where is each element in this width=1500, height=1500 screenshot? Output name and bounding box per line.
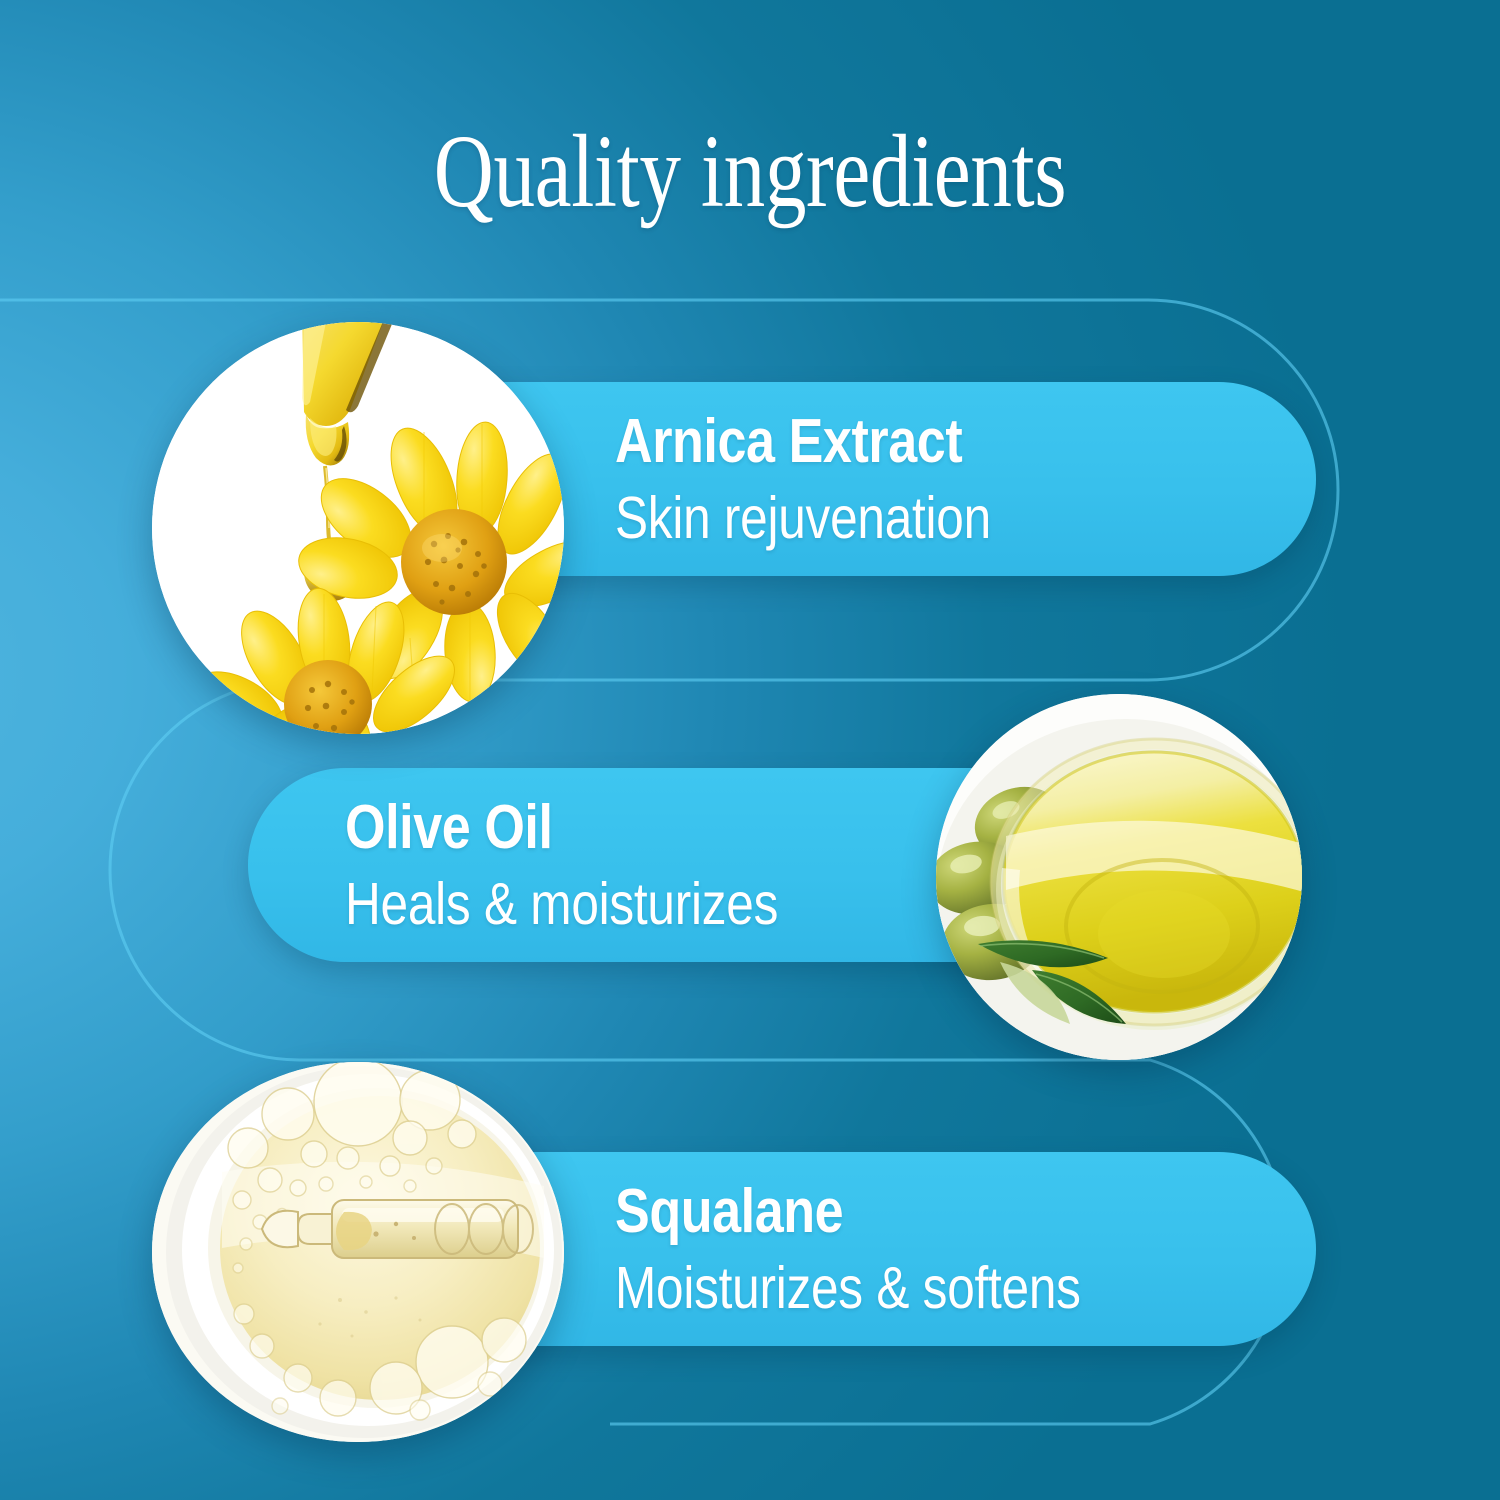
ingredient-desc-squalane: Moisturizes & softens <box>615 1259 1204 1318</box>
ingredient-desc-olive-oil: Heals & moisturizes <box>345 875 1038 934</box>
infographic-canvas: Quality ingredients Arnica Extract Skin … <box>0 0 1500 1500</box>
olive-oil-bowl-photo <box>936 694 1302 1060</box>
ingredient-name-arnica: Arnica Extract <box>615 411 1204 473</box>
ingredient-desc-arnica: Skin rejuvenation <box>615 489 1204 548</box>
ingredient-name-squalane: Squalane <box>615 1181 1204 1243</box>
ingredient-name-olive-oil: Olive Oil <box>345 797 1038 859</box>
squalane-oil-jar-photo <box>152 1062 564 1442</box>
page-title: Quality ingredients <box>150 117 1350 226</box>
arnica-flower-oil-dropper-photo <box>152 322 564 734</box>
